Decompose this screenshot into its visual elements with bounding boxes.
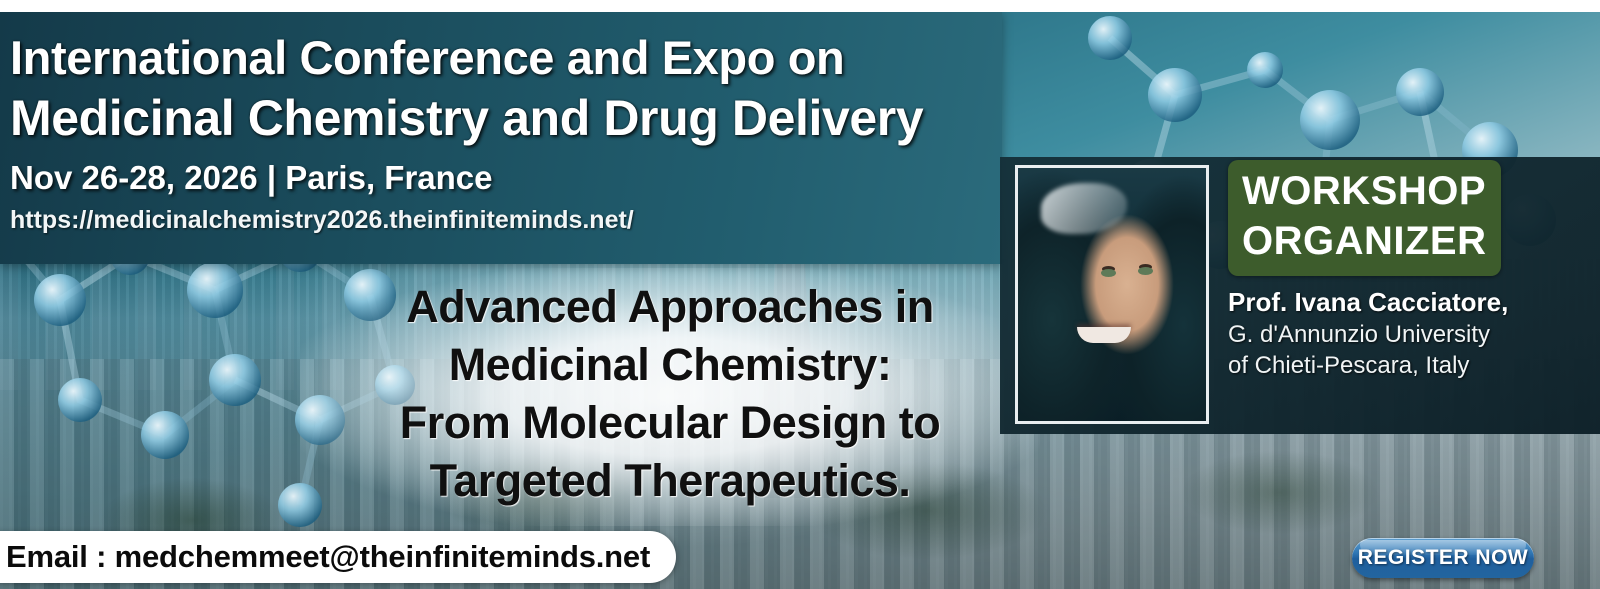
header-bar: International Conference and Expo on Med…	[0, 12, 1002, 264]
organizer-name: Prof. Ivana Cacciatore,	[1228, 285, 1588, 319]
photo-smile	[1077, 327, 1131, 343]
photo-eye-left	[1101, 269, 1116, 277]
email-contact-pill[interactable]: Email : medchemmeet@theinfiniteminds.net	[0, 531, 676, 583]
email-label: Email : medchemmeet@theinfiniteminds.net	[6, 539, 650, 575]
photo-eye-right	[1138, 267, 1153, 275]
workshop-theme-title: Advanced Approaches in Medicinal Chemist…	[300, 278, 1040, 510]
badge-line-2: ORGANIZER	[1242, 216, 1487, 266]
conference-date-location: Nov 26-28, 2026 | Paris, France	[10, 154, 990, 202]
theme-line-2: Medicinal Chemistry:	[300, 336, 1040, 394]
conference-title-line2: Medicinal Chemistry and Drug Delivery	[10, 88, 990, 148]
theme-line-4: Targeted Therapeutics.	[300, 452, 1040, 510]
conference-banner: International Conference and Expo on Med…	[0, 0, 1600, 589]
badge-line-1: WORKSHOP	[1242, 166, 1487, 216]
organizer-affiliation-line1: G. d'Annunzio University	[1228, 319, 1588, 350]
conference-website-link[interactable]: https://medicinalchemistry2026.theinfini…	[10, 202, 990, 238]
header-content: International Conference and Expo on Med…	[10, 28, 990, 238]
avatar	[1018, 168, 1206, 421]
register-now-button[interactable]: REGISTER NOW	[1352, 538, 1534, 578]
organizer-details: WORKSHOP ORGANIZER Prof. Ivana Cacciator…	[1228, 160, 1588, 381]
top-white-strip	[0, 0, 1600, 12]
organizer-affiliation-line2: of Chieti-Pescara, Italy	[1228, 350, 1588, 381]
status-badge: WORKSHOP ORGANIZER	[1228, 160, 1501, 276]
organizer-photo-frame	[1015, 165, 1209, 424]
conference-title-line1: International Conference and Expo on	[10, 28, 990, 88]
theme-line-1: Advanced Approaches in	[300, 278, 1040, 336]
photo-highlight	[1041, 183, 1127, 234]
theme-line-3: From Molecular Design to	[300, 394, 1040, 452]
